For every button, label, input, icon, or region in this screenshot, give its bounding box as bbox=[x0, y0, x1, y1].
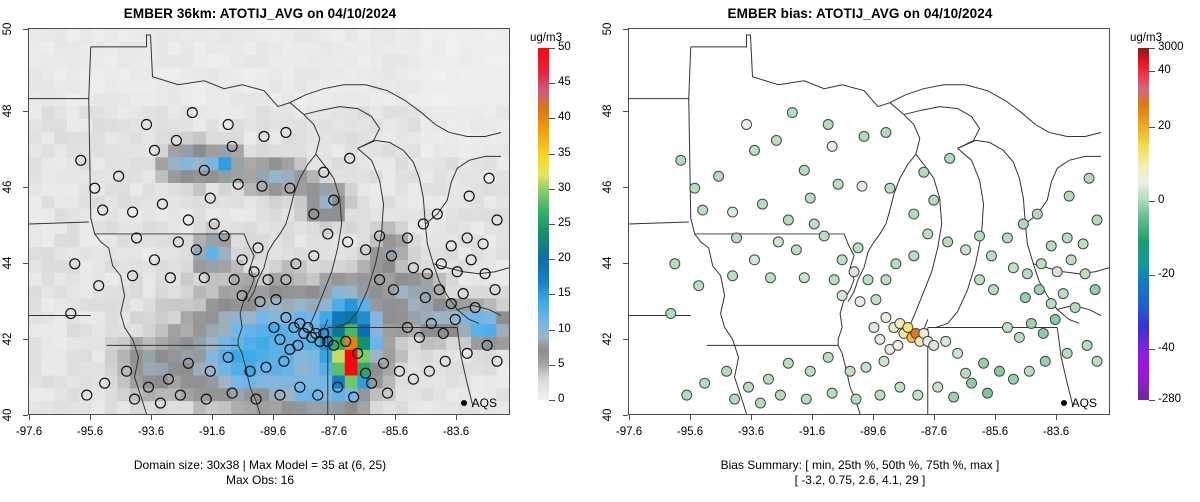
colorbar-tick bbox=[1149, 400, 1155, 401]
colorbar-tick bbox=[1149, 48, 1155, 49]
y-tick-label: 48 bbox=[2, 96, 14, 126]
y-tick-label: 42 bbox=[602, 324, 614, 354]
colorbar-tick-label: 3000 bbox=[1158, 41, 1184, 53]
panel-model: EMBER 36km: ATOTIJ_AVG on 04/10/2024 40 … bbox=[0, 0, 600, 502]
page-title-bias: EMBER bias: ATOTIJ_AVG on 04/10/2024 bbox=[600, 6, 1120, 21]
colorbar-tick-label: -280 bbox=[1158, 393, 1181, 405]
colorbar-tick bbox=[549, 294, 555, 295]
colorbar-tick bbox=[549, 154, 555, 155]
colorbar-tick-label: 20 bbox=[1158, 120, 1171, 132]
caption-line-1-bias: Bias Summary: [ min, 25th %, 50th %, 75t… bbox=[600, 458, 1120, 473]
x-tick-label: -85.6 bbox=[365, 426, 425, 438]
x-tick-label: -93.6 bbox=[121, 426, 181, 438]
colorbar-tick bbox=[549, 330, 555, 331]
x-tick-label: -87.6 bbox=[304, 426, 364, 438]
colorbar-tick-label: -40 bbox=[1158, 342, 1175, 354]
map-plot-bias[interactable]: AQS bbox=[628, 28, 1110, 415]
colorbar-tick-label: 35 bbox=[558, 147, 571, 159]
colorbar-tick bbox=[549, 189, 555, 190]
aqs-legend-label: AQS bbox=[1072, 396, 1097, 410]
aqs-legend-bias: AQS bbox=[1061, 396, 1097, 410]
y-tick-label: 46 bbox=[2, 172, 14, 202]
x-tick-label: -91.6 bbox=[182, 426, 242, 438]
caption-line-1-model: Domain size: 30x38 | Max Model = 35 at (… bbox=[0, 458, 520, 473]
colorbar-tick bbox=[1149, 349, 1155, 350]
colorbar-tick bbox=[1149, 71, 1155, 72]
y-tick-label: 44 bbox=[2, 248, 14, 278]
x-tick-label: -83.6 bbox=[426, 426, 486, 438]
colorbar-tick-label: -20 bbox=[1158, 268, 1175, 280]
figure-ember-atotij: EMBER 36km: ATOTIJ_AVG on 04/10/2024 40 … bbox=[0, 0, 1200, 502]
colorbar-tick bbox=[549, 224, 555, 225]
colorbar-tick bbox=[549, 400, 555, 401]
colorbar-tick-label: 30 bbox=[558, 182, 571, 194]
aqs-marker-icon bbox=[461, 400, 467, 406]
colorbar-tick-label: 5 bbox=[558, 358, 564, 370]
caption-line-2-model: Max Obs: 16 bbox=[0, 473, 520, 488]
x-tick-label: -85.6 bbox=[965, 426, 1025, 438]
colorbar-tick-label: 20 bbox=[558, 252, 571, 264]
colorbar-tick bbox=[549, 118, 555, 119]
x-tick-label: -95.6 bbox=[660, 426, 720, 438]
bias-map-canvas bbox=[629, 29, 1109, 414]
x-tick-label: -93.6 bbox=[721, 426, 781, 438]
colorbar-tick bbox=[1149, 275, 1155, 276]
x-tick-label: -97.6 bbox=[0, 426, 59, 438]
x-tick-label: -83.6 bbox=[1026, 426, 1086, 438]
y-tick-label: 50 bbox=[2, 14, 14, 44]
y-tick-label: 46 bbox=[602, 172, 614, 202]
x-tick-label: -95.6 bbox=[60, 426, 120, 438]
colorbar-tick-label: 15 bbox=[558, 287, 571, 299]
colorbar-tick bbox=[549, 48, 555, 49]
colorbar-tick-label: 45 bbox=[558, 76, 571, 88]
x-tick-label: -97.6 bbox=[599, 426, 659, 438]
aqs-marker-icon bbox=[1061, 400, 1067, 406]
colorbar-tick bbox=[549, 259, 555, 260]
map-plot-model[interactable]: AQS bbox=[28, 28, 510, 415]
colorbar-tick-label: 0 bbox=[1158, 194, 1164, 206]
caption-line-2-bias: [ -3.2, 0.75, 2.6, 4.1, 29 ] bbox=[600, 473, 1120, 488]
colorbar-model[interactable] bbox=[538, 48, 549, 400]
aqs-legend-model: AQS bbox=[461, 396, 497, 410]
x-tick-label: -91.6 bbox=[782, 426, 842, 438]
panel-bias: EMBER bias: ATOTIJ_AVG on 04/10/2024 40 … bbox=[600, 0, 1200, 502]
model-map-canvas bbox=[29, 29, 509, 414]
aqs-legend-label: AQS bbox=[472, 396, 497, 410]
x-tick-label: -87.6 bbox=[904, 426, 964, 438]
colorbar-tick bbox=[1149, 201, 1155, 202]
x-tick-label: -89.6 bbox=[843, 426, 903, 438]
y-tick-label: 50 bbox=[602, 14, 614, 44]
colorbar-tick-label: 40 bbox=[558, 111, 571, 123]
colorbar-tick bbox=[549, 365, 555, 366]
colorbar-tick-label: 50 bbox=[558, 41, 571, 53]
y-tick-label: 42 bbox=[2, 324, 14, 354]
colorbar-tick-label: 0 bbox=[558, 393, 564, 405]
colorbar-bias[interactable] bbox=[1138, 48, 1149, 400]
colorbar-tick-label: 10 bbox=[558, 323, 571, 335]
y-tick-label: 44 bbox=[602, 248, 614, 278]
colorbar-tick-label: 40 bbox=[1158, 64, 1171, 76]
colorbar-tick-label: 25 bbox=[558, 217, 571, 229]
y-tick-label: 48 bbox=[602, 96, 614, 126]
page-title-model: EMBER 36km: ATOTIJ_AVG on 04/10/2024 bbox=[0, 6, 520, 21]
x-tick-label: -89.6 bbox=[243, 426, 303, 438]
colorbar-tick bbox=[549, 83, 555, 84]
colorbar-tick bbox=[1149, 127, 1155, 128]
